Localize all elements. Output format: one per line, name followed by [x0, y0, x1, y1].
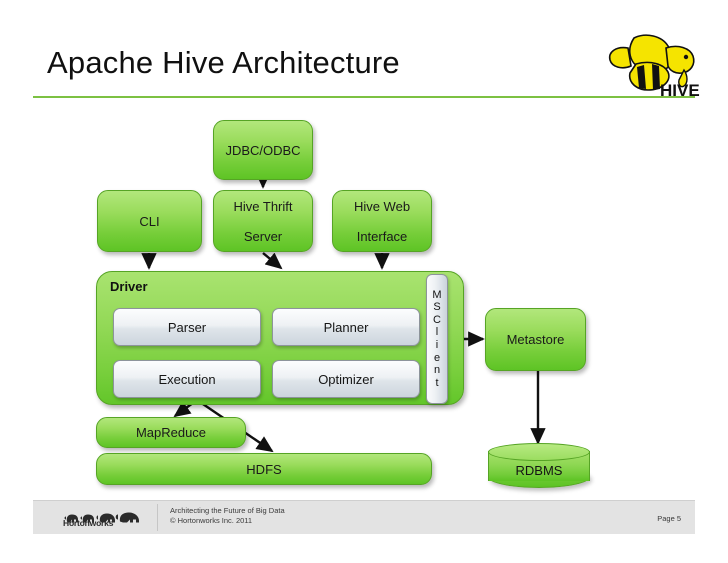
slide-footer: Hortonworks Architecting the Future of B… [33, 500, 695, 534]
node-hive-web-interface[interactable]: Hive Web Interface [332, 190, 432, 252]
footer-brand: Hortonworks [63, 518, 147, 528]
node-metastore[interactable]: Metastore [485, 308, 586, 371]
node-execution[interactable]: Execution [113, 360, 261, 398]
ms-client-letter-7: t [435, 377, 438, 390]
node-label-execution: Execution [158, 372, 215, 387]
ms-client-letter-5: e [434, 352, 440, 365]
page-title: Apache Hive Architecture [47, 45, 400, 81]
node-hive-thrift-server[interactable]: Hive Thrift Server [213, 190, 313, 252]
hive-logo-text: HIVE [660, 81, 700, 100]
title-divider [33, 96, 695, 98]
footer-tagline: Architecting the Future of Big Data [170, 506, 285, 516]
thrift-line-2: Server [230, 229, 297, 244]
driver-label: Driver [110, 279, 148, 294]
node-cli[interactable]: CLI [97, 190, 202, 252]
node-optimizer[interactable]: Optimizer [272, 360, 420, 398]
node-hdfs[interactable]: HDFS [96, 453, 432, 485]
node-jdbc-odbc[interactable]: JDBC/ODBC [213, 120, 313, 180]
footer-text: Architecting the Future of Big Data © Ho… [170, 506, 285, 525]
node-planner[interactable]: Planner [272, 308, 420, 346]
ms-client-letter-2: C [433, 314, 441, 327]
hwi-line-1: Hive Web [350, 199, 414, 214]
ms-client-letter-4: i [436, 339, 438, 352]
node-ms-client[interactable]: M S C l i e n t [426, 274, 448, 404]
node-label-rdbms: RDBMS [488, 457, 590, 483]
thrift-line-1: Hive Thrift [230, 199, 297, 214]
node-parser[interactable]: Parser [113, 308, 261, 346]
page-number: Page 5 [657, 514, 681, 523]
node-mapreduce[interactable]: MapReduce [96, 417, 246, 448]
node-label-planner: Planner [324, 320, 369, 335]
node-label-mapreduce: MapReduce [132, 425, 210, 440]
node-label-cli: CLI [135, 214, 163, 229]
hive-logo-icon: HIVE [600, 28, 700, 100]
footer-copyright: © Hortonworks Inc. 2011 [170, 516, 285, 526]
node-rdbms[interactable]: RDBMS [488, 443, 590, 489]
node-label-hive-thrift-server: Hive Thrift Server [226, 199, 301, 244]
ms-client-letter-1: S [433, 301, 440, 314]
node-label-metastore: Metastore [503, 332, 569, 347]
node-label-hive-web-interface: Hive Web Interface [346, 199, 418, 244]
slide-canvas: Apache Hive Architecture HIVE [0, 0, 728, 563]
node-label-jdbc-odbc: JDBC/ODBC [221, 143, 304, 158]
ms-client-letter-6: n [434, 364, 440, 377]
node-label-optimizer: Optimizer [318, 372, 374, 387]
hwi-line-2: Interface [350, 229, 414, 244]
node-label-parser: Parser [168, 320, 206, 335]
ms-client-letter-3: l [436, 326, 438, 339]
node-label-hdfs: HDFS [242, 462, 285, 477]
ms-client-letter-0: M [432, 289, 441, 302]
footer-divider [157, 504, 158, 531]
